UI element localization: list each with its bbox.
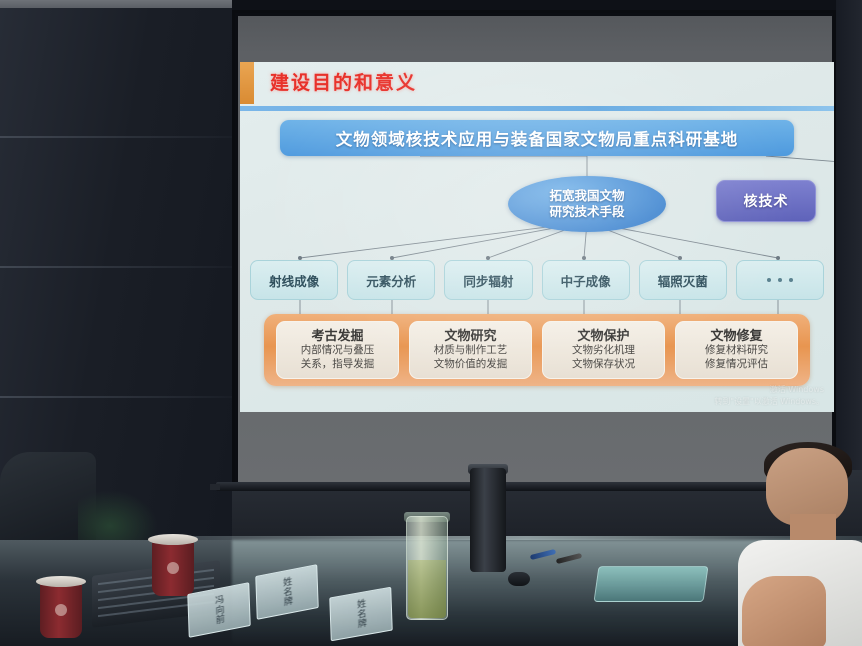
core-node-label: 核技术 bbox=[744, 191, 789, 211]
cup-logo-icon bbox=[55, 604, 67, 616]
watermark-line2: 转到"设置"以激活 Windows。 bbox=[714, 396, 824, 408]
title-divider-rule bbox=[240, 106, 834, 111]
placard-name: 冯向前 bbox=[212, 594, 226, 626]
tech-label: 射线成像 bbox=[269, 271, 319, 290]
application-line1: 文物劣化机理 bbox=[572, 344, 635, 357]
mouse bbox=[508, 572, 530, 586]
tech-box: 元素分析 bbox=[347, 260, 435, 300]
tablet-device bbox=[593, 566, 708, 602]
wall-right-panel bbox=[836, 0, 862, 470]
conference-room-scene: 建设目的和意义 bbox=[0, 0, 862, 646]
application-line1: 材质与制作工艺 bbox=[434, 344, 508, 357]
presentation-slide: 建设目的和意义 bbox=[240, 62, 834, 412]
tech-box: 中子成像 bbox=[542, 260, 630, 300]
banner-text: 文物领域核技术应用与装备国家文物局重点科研基地 bbox=[336, 126, 739, 150]
cup-logo-icon bbox=[167, 562, 179, 574]
application-heading: 考古发掘 bbox=[311, 329, 363, 345]
thermos bbox=[470, 468, 506, 572]
attendee-arm bbox=[742, 576, 826, 646]
tech-label: 元素分析 bbox=[366, 271, 416, 290]
goal-node-left: 拓宽我国文物 研究技术手段 bbox=[508, 176, 666, 232]
paper-cup bbox=[40, 582, 82, 638]
application-box: 文物研究 材质与制作工艺 文物价值的发掘 bbox=[409, 321, 532, 379]
watermark-line1: 激活 Windows bbox=[714, 384, 824, 396]
tech-box-ellipsis bbox=[736, 260, 824, 300]
application-box: 文物保护 文物劣化机理 文物保存状况 bbox=[542, 321, 665, 379]
application-box: 文物修复 修复材料研究 修复情况评估 bbox=[675, 321, 798, 379]
seated-attendee bbox=[744, 448, 862, 646]
application-heading: 文物研究 bbox=[444, 329, 496, 345]
technology-row: 射线成像 元素分析 同步辐射 中子成像 辐照灭菌 bbox=[250, 260, 824, 300]
placard-name: 姓名牌 bbox=[354, 598, 368, 630]
ellipsis-dots-icon bbox=[767, 278, 793, 282]
tech-box: 射线成像 bbox=[250, 260, 338, 300]
application-box: 考古发掘 内部情况与叠压 关系，指导发掘 bbox=[276, 321, 399, 379]
goal-left-text: 拓宽我国文物 研究技术手段 bbox=[549, 188, 624, 219]
application-bar: 考古发掘 内部情况与叠压 关系，指导发掘 文物研究 材质与制作工艺 文物价值的发… bbox=[264, 314, 810, 386]
paper-cup bbox=[152, 540, 194, 596]
tech-box: 辐照灭菌 bbox=[639, 260, 727, 300]
slide-title: 建设目的和意义 bbox=[270, 68, 417, 95]
title-accent-bar bbox=[240, 62, 254, 104]
tech-box: 同步辐射 bbox=[444, 260, 532, 300]
tech-label: 同步辐射 bbox=[463, 271, 513, 290]
application-heading: 文物修复 bbox=[710, 329, 762, 345]
application-line1: 修复材料研究 bbox=[705, 344, 768, 357]
application-line2: 文物价值的发掘 bbox=[434, 358, 508, 371]
placard-name: 姓名牌 bbox=[280, 576, 294, 608]
application-line2: 文物保存状况 bbox=[572, 358, 635, 371]
tea-leaves bbox=[408, 560, 446, 618]
application-line2: 修复情况评估 bbox=[705, 358, 768, 371]
slide-banner-title: 文物领域核技术应用与装备国家文物局重点科研基地 bbox=[280, 120, 794, 156]
application-line1: 内部情况与叠压 bbox=[301, 344, 375, 357]
application-line2: 关系，指导发掘 bbox=[301, 358, 375, 371]
tech-label: 中子成像 bbox=[561, 271, 611, 290]
windows-activation-watermark: 激活 Windows 转到"设置"以激活 Windows。 bbox=[714, 384, 824, 407]
tech-label: 辐照灭菌 bbox=[658, 271, 708, 290]
core-node-nuclear-technology: 核技术 bbox=[716, 180, 816, 222]
application-heading: 文物保护 bbox=[577, 329, 629, 345]
